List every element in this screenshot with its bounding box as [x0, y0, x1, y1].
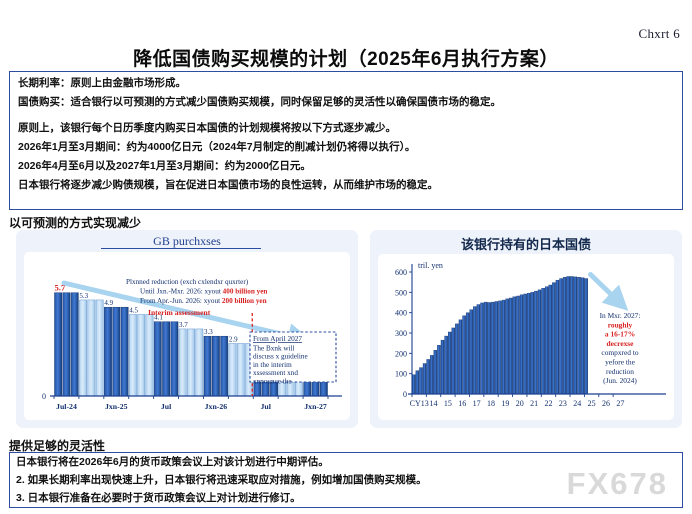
left-chart-title: GB purchxses — [16, 234, 358, 249]
bar — [488, 303, 491, 395]
bar — [221, 336, 228, 396]
bar — [552, 283, 555, 394]
bar — [484, 302, 487, 394]
bar — [574, 277, 577, 394]
bar — [459, 320, 462, 394]
bar — [129, 314, 136, 396]
callout-body-line: The Bxnk will — [253, 345, 295, 353]
bar — [527, 293, 530, 394]
bar — [63, 293, 70, 396]
left-plot-area: 0Jul-24Jxn-25JulJxn-26JulJxn-275.75.34.9… — [24, 252, 350, 420]
y-tick-label: 500 — [395, 288, 407, 297]
decline-arrow-icon — [590, 275, 617, 301]
chart-panel-jgb-holdings: 该银行持有的日本国债 tril. yen0100200300400500600C… — [370, 230, 682, 428]
jgb-holdings-chart: tril. yen0100200300400500600CY1314151617… — [378, 254, 674, 420]
flexibility-box: 日本银行将在2026年6月的货币政策会议上对该计划进行中期评估。 2. 如果长期… — [9, 452, 683, 508]
bar-value-label: 4.5 — [129, 306, 138, 314]
annotation-line-3: From Apr.-Jun. 2026: xyout 200 billion y… — [140, 297, 267, 305]
bar — [545, 287, 548, 394]
bar-value-label: 2.9 — [229, 335, 238, 343]
chart-panel-gb-purchases: GB purchxses 0Jul-24Jxn-25JulJxn-26JulJx… — [16, 230, 358, 428]
y-tick-label: 100 — [395, 370, 407, 379]
bar — [204, 336, 211, 396]
callout-body-line: xssessment xnd — [253, 369, 298, 377]
holdings-annotation-line: yefore the — [605, 358, 635, 367]
bar — [179, 329, 186, 396]
holdings-annotation-line: decrexse — [607, 339, 635, 348]
holdings-annotation-line: compxred to — [601, 348, 638, 357]
bar — [495, 301, 498, 394]
x-tick-label: 27 — [616, 399, 624, 408]
x-tick-label: 14 — [430, 399, 438, 408]
y-tick-label: 400 — [395, 309, 407, 318]
bar — [556, 280, 559, 394]
holdings-annotation-line: reduction — [606, 367, 634, 376]
y-axis-unit-label: tril. yen — [418, 261, 443, 270]
bar — [445, 336, 448, 394]
bar — [430, 355, 433, 394]
bar — [154, 322, 161, 396]
bar — [470, 310, 473, 394]
bar — [542, 288, 545, 394]
bar — [113, 307, 120, 396]
x-tick-label: 16 — [458, 399, 466, 408]
policy-summary-box: 长期利率：原则上由金融市场形成。 国债购买：适合银行以可预测的方式减少国债购买规… — [9, 71, 683, 210]
flex-line-3: 3. 日本银行准备在必要时于货币政策会议上对计划进行修订。 — [16, 491, 676, 506]
bar — [441, 340, 444, 394]
bar — [146, 314, 153, 396]
bar — [491, 302, 494, 394]
bar — [524, 294, 527, 394]
section-heading-predictable: 以可预测的方式实现减少 — [9, 214, 141, 231]
x-tick-label: Jul-24 — [56, 402, 77, 411]
bar — [79, 300, 86, 396]
slide-page: Chxrt 6 降低国债购买规模的计划（2025年6月执行方案） 长期利率：原则… — [0, 0, 692, 514]
holdings-annotation-line: In Mxr. 2027: — [600, 311, 641, 320]
bar — [520, 295, 523, 394]
y-tick-label: 0 — [403, 390, 407, 399]
y-tick-label: 300 — [395, 329, 407, 338]
chart-number-label: Chxrt 6 — [639, 26, 680, 42]
policy-line-2: 国债购买：适合银行以可预测的方式减少国债购买规模，同时保留足够的灵活性以确保国债… — [18, 96, 674, 109]
x-tick-label: 18 — [487, 399, 495, 408]
callout-title: From April 2027 — [253, 334, 302, 343]
x-tick-label: Jxn-27 — [304, 402, 327, 411]
bar — [585, 279, 588, 394]
flex-line-1: 日本银行将在2026年6月的货币政策会议上对该计划进行中期评估。 — [16, 455, 676, 470]
x-tick-label: 15 — [444, 399, 452, 408]
bar-value-label: 3.3 — [204, 328, 213, 336]
bar — [196, 329, 203, 396]
bar — [531, 292, 534, 394]
bar — [434, 350, 437, 394]
bar — [121, 307, 128, 396]
bar — [237, 343, 244, 396]
annotation-line-2: Until Jxn.-Mxr. 2026: xyout 400 billion … — [140, 288, 267, 296]
bar — [448, 332, 451, 394]
x-tick-label: 21 — [530, 399, 538, 408]
annotation-line-1: Plxnned reduction (exch cxlendxr quxrter… — [126, 278, 249, 286]
bar — [534, 291, 537, 394]
flex-line-2: 2. 如果长期利率出现快速上升，日本银行将迅速采取应对措施，例如增加国债购买规模… — [16, 473, 676, 488]
x-tick-label: 19 — [501, 399, 509, 408]
bar — [473, 307, 476, 394]
bar — [513, 297, 516, 394]
bar — [437, 345, 440, 394]
x-tick-label: 26 — [602, 399, 610, 408]
holdings-annotation-line: (Jun. 2024) — [603, 376, 637, 385]
bar — [138, 314, 145, 396]
bar — [88, 300, 95, 396]
bar — [419, 368, 422, 394]
bar — [567, 276, 570, 394]
bar — [463, 316, 466, 394]
interim-assessment-label: Interim assessment — [148, 308, 211, 317]
bar — [549, 285, 552, 394]
bar — [96, 300, 103, 396]
x-tick-label: Jxn-25 — [105, 402, 128, 411]
bar — [229, 343, 236, 396]
callout-body-line: in the interim — [253, 361, 292, 369]
bar — [466, 313, 469, 394]
policy-line-1: 长期利率：原则上由金融市场形成。 — [18, 77, 674, 90]
bar — [55, 293, 62, 396]
x-tick-label: 17 — [473, 399, 481, 408]
bar — [538, 290, 541, 394]
bar — [516, 296, 519, 394]
bar-value-label: 3.7 — [179, 321, 188, 329]
holdings-annotation-line: roughly — [608, 320, 633, 329]
bar — [427, 359, 430, 394]
bar — [481, 303, 484, 394]
x-tick-label: 22 — [544, 399, 552, 408]
x-tick-label: Jul — [161, 402, 172, 411]
bar — [563, 277, 566, 394]
y-tick-label: 600 — [395, 268, 407, 277]
bar — [506, 299, 509, 394]
x-tick-label: 25 — [588, 399, 596, 408]
x-tick-label: Jxn-26 — [205, 402, 228, 411]
bar — [423, 364, 426, 395]
policy-line-6: 2026年4月至6月以及2027年1月至3月期间：约为2000亿日元。 — [18, 160, 674, 173]
policy-spacer — [18, 115, 674, 122]
bar — [581, 278, 584, 394]
bar — [502, 300, 505, 394]
bar — [452, 328, 455, 394]
x-tick-label: 24 — [573, 399, 581, 408]
bar — [577, 277, 580, 394]
x-tick-label: 23 — [559, 399, 567, 408]
callout-body-line: xnnounce the — [253, 377, 292, 385]
bar-value-label: 4.9 — [104, 299, 113, 307]
right-chart-title: 该银行持有的日本国债 — [370, 234, 682, 253]
y-tick-0: 0 — [42, 392, 46, 401]
bar — [455, 324, 458, 394]
right-plot-area: tril. yen0100200300400500600CY1314151617… — [378, 254, 674, 420]
bar — [162, 322, 169, 396]
holdings-annotation-line: a 16-17% — [605, 330, 635, 339]
bar — [212, 336, 219, 396]
bar — [187, 329, 194, 396]
x-tick-label: CY13 — [410, 399, 429, 408]
x-tick-label: 20 — [516, 399, 524, 408]
bar — [477, 305, 480, 394]
policy-line-5: 2026年1月至3月期间：约为4000亿日元（2024年7月制定的削减计划仍将得… — [18, 141, 674, 154]
bar — [570, 276, 573, 394]
bar — [171, 322, 178, 396]
bar-value-label: 5.3 — [79, 292, 88, 300]
bar — [416, 371, 419, 394]
bar — [509, 298, 512, 394]
policy-line-4: 原则上，该银行每个日历季度内购买日本国债的计划规模将按以下方式逐步减少。 — [18, 122, 674, 135]
bar — [104, 307, 111, 396]
x-tick-label: Jul — [261, 402, 272, 411]
policy-line-7: 日本银行将逐步减少购债规模，旨在促进日本国债市场的良性运转，从而维护市场的稳定。 — [18, 179, 674, 192]
y-tick-label: 200 — [395, 349, 407, 358]
bar — [71, 293, 78, 396]
bar — [560, 279, 563, 394]
callout-body-line: discuss x guideline — [253, 353, 308, 361]
bar — [412, 375, 415, 394]
page-title: 降低国债购买规模的计划（2025年6月执行方案） — [0, 44, 692, 71]
bar — [498, 301, 501, 394]
gb-purchases-chart: 0Jul-24Jxn-25JulJxn-26JulJxn-275.75.34.9… — [24, 252, 350, 420]
